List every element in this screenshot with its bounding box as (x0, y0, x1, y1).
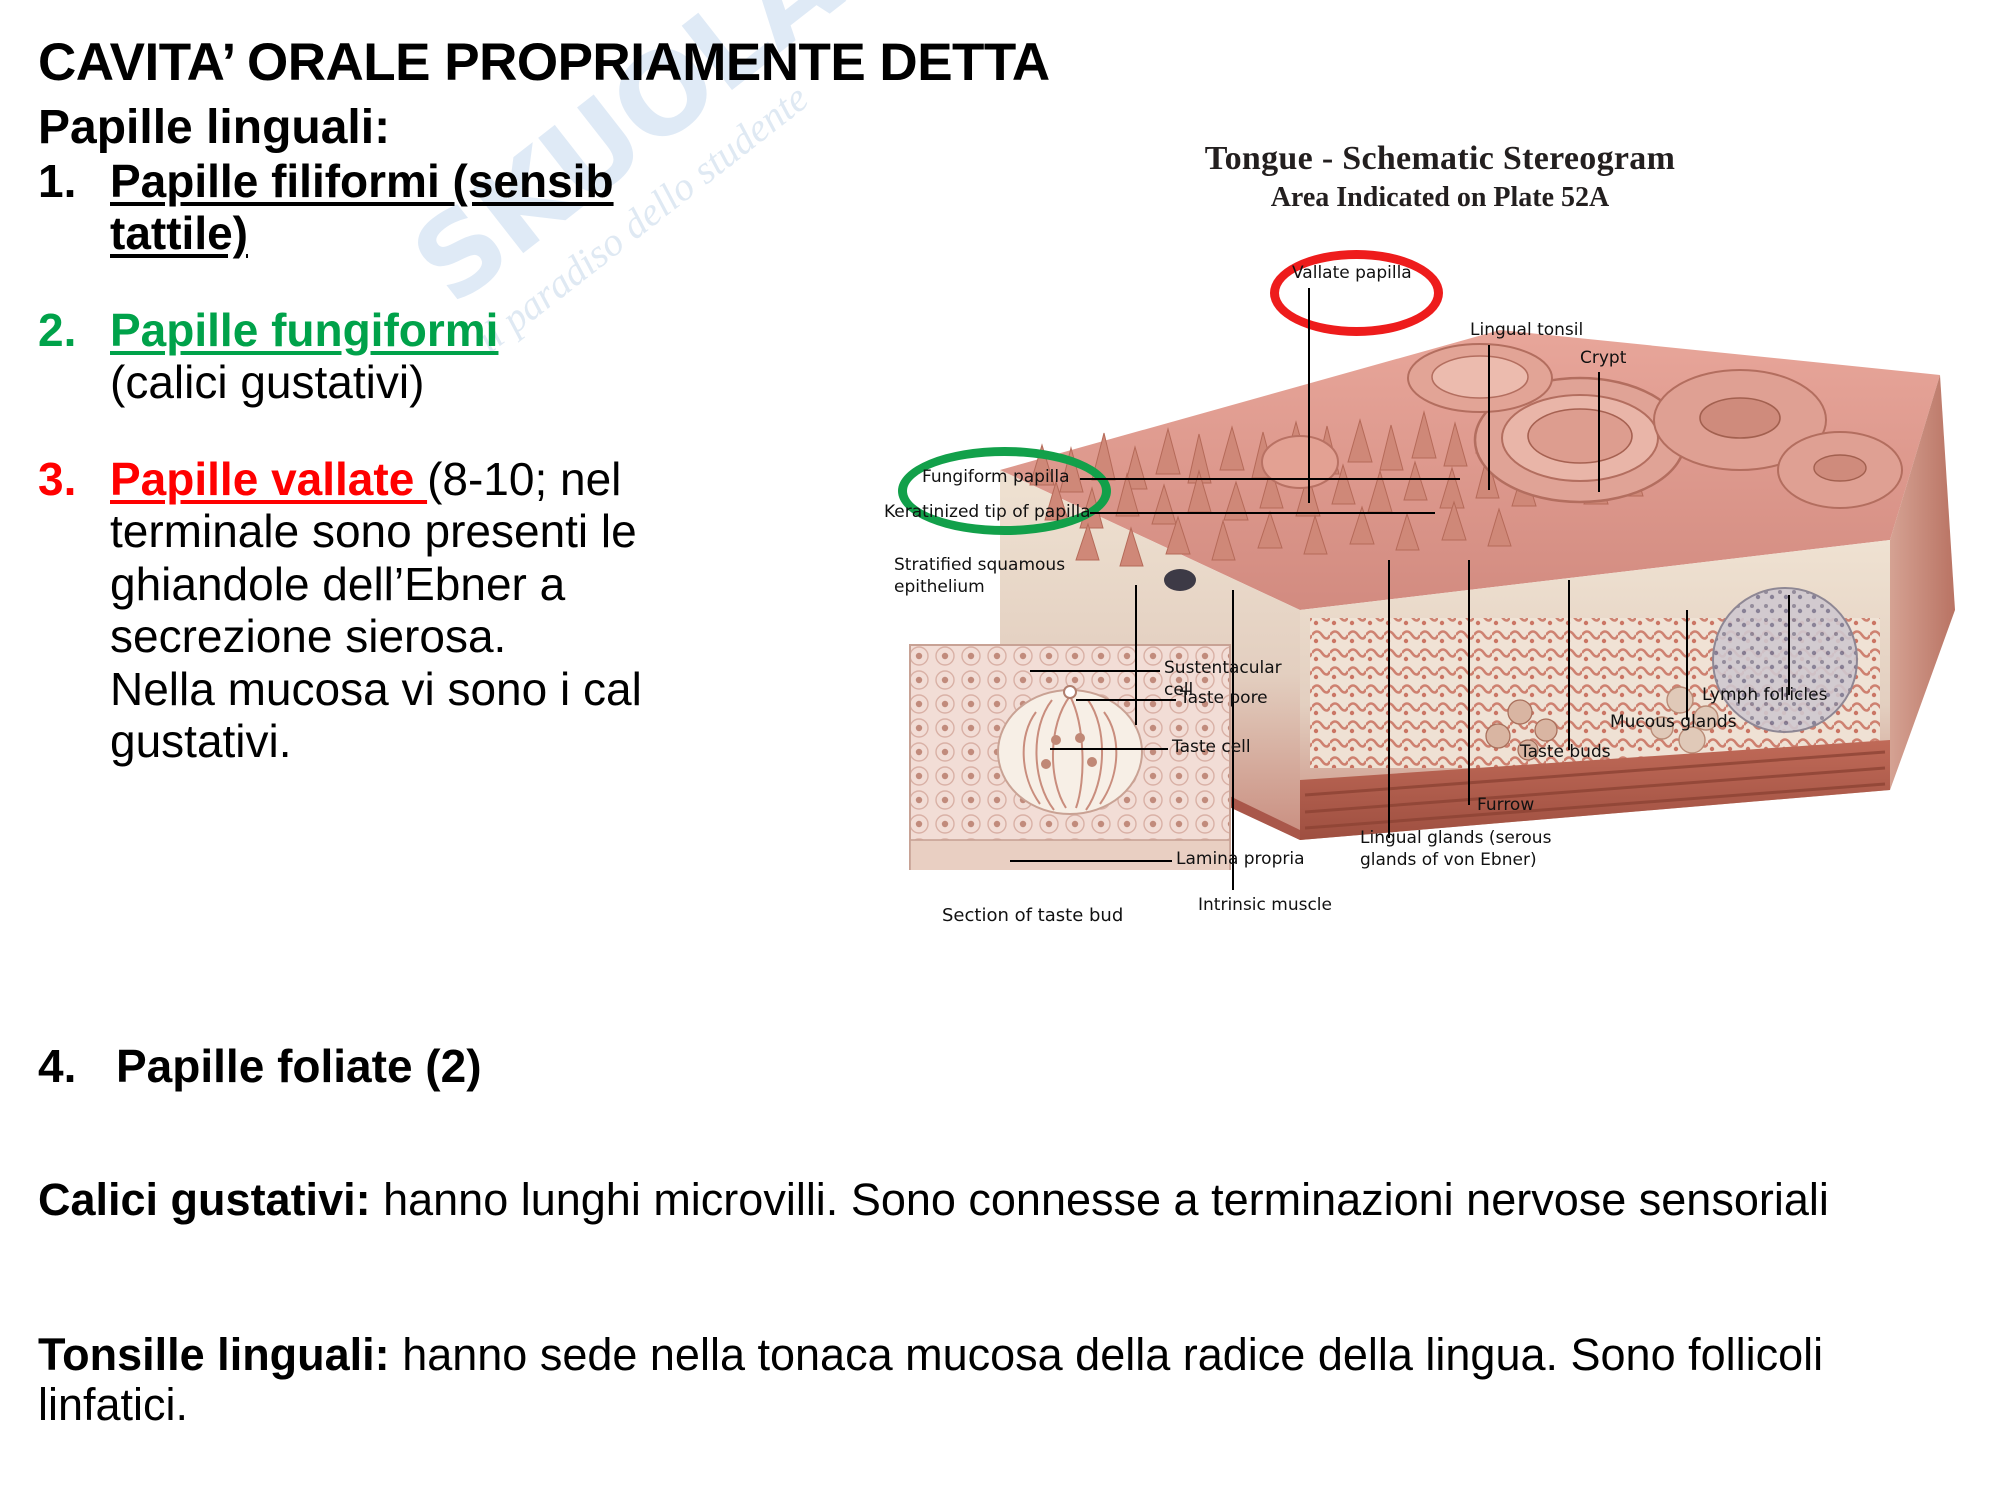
label-taste-buds: Taste buds (1520, 742, 1611, 763)
label-lymph-follicles: Lymph follicles (1702, 685, 1827, 706)
list-item-2-highlight: Papille fungiformi (110, 304, 498, 356)
list-item-3-rest4: secrezione sierosa. (110, 610, 506, 662)
list-item-1-highlight: Papille filiformi (sensib (110, 155, 614, 207)
paragraph-tonsille-linguali: Tonsille linguali: hanno sede nella tona… (38, 1330, 1948, 1431)
list-item-2-number: 2. (38, 304, 110, 356)
label-lingual-tonsil: Lingual tonsil (1470, 320, 1583, 341)
page-title: CAVITA’ ORALE PROPRIAMENTE DETTA (38, 32, 1050, 93)
label-taste-pore: Taste pore (1180, 688, 1268, 709)
list-item-2-rest: (calici gustativi) (110, 356, 424, 408)
list-item-3-line1: Papille vallate (8-10; nel (110, 453, 621, 505)
text-column: CAVITA’ ORALE PROPRIAMENTE DETTA Papille… (0, 0, 1100, 1500)
label-crypt: Crypt (1580, 348, 1626, 369)
list-item-3-highlight: Papille vallate (110, 453, 427, 505)
leader-vallate (1308, 288, 1310, 503)
label-mucous-glands: Mucous glands (1610, 712, 1737, 733)
label-lamina-propria: Lamina propria (1176, 849, 1305, 870)
list-item-3-rest6: gustativi. (110, 715, 292, 767)
list-item-3-rest5: Nella mucosa vi sono i cal (110, 663, 642, 715)
leader-fungiform (1080, 478, 1460, 480)
list-item-1-rest: tattile) (110, 207, 248, 259)
list-item-4: 4. Papille foliate (2) (38, 1040, 482, 1092)
label-intrinsic-muscle: Intrinsic muscle (1198, 895, 1332, 916)
leader-taste-buds (1568, 580, 1570, 750)
list-item-3-body: Papille vallate (8-10; nel terminale son… (110, 453, 642, 768)
list-item-2-body: Papille fungiformi (calici gustativi) (110, 304, 498, 409)
paragraph-calici-text: hanno lunghi microvilli. Sono connesse a… (371, 1174, 1829, 1225)
list-item-2: 2. Papille fungiformi (calici gustativi) (38, 304, 1098, 409)
label-sustentacular: Sustentacular (1164, 658, 1282, 679)
list-item-4-highlight: Papille foliate (2) (116, 1040, 482, 1092)
leader-furrow (1468, 560, 1470, 805)
leader-stratified (1135, 585, 1137, 725)
list-item-3-rest2: terminale sono presenti le (110, 505, 637, 557)
label-von-ebner: glands of von Ebner) (1360, 850, 1537, 871)
leader-lymph-follicles (1788, 595, 1790, 695)
leader-lingual-tonsil (1488, 345, 1490, 490)
spacer-1 (38, 260, 1098, 304)
leader-mucous-glands (1686, 610, 1688, 720)
label-furrow: Furrow (1477, 795, 1534, 816)
leader-lingual-glands (1388, 560, 1390, 838)
paragraph-tonsille-lead: Tonsille linguali: (38, 1329, 390, 1380)
list-item-3-number: 3. (38, 453, 110, 505)
list-item-3-rest3: ghiandole dell’Ebner a (110, 558, 565, 610)
papillae-list: 1. Papille filiformi (sensib tattile) 2.… (38, 155, 1098, 767)
page-subtitle: Papille linguali: (38, 100, 390, 155)
list-item-1-number: 1. (38, 155, 110, 207)
spacer-2 (38, 409, 1098, 453)
paragraph-calici-gustativi: Calici gustativi: hanno lunghi microvill… (38, 1175, 1948, 1225)
leader-crypt (1598, 372, 1600, 492)
label-lingual-glands: Lingual glands (serous (1360, 828, 1551, 849)
list-item-3: 3. Papille vallate (8-10; nel terminale … (38, 453, 1098, 768)
list-item-1-body: Papille filiformi (sensib tattile) (110, 155, 614, 260)
slide-canvas: SKUOLA.net il paradiso dello studente CA… (0, 0, 2000, 1500)
list-item-4-number: 4. (38, 1040, 116, 1092)
label-vallate-papilla: Vallate papilla (1292, 263, 1412, 284)
list-item-3-rest1: (8-10; nel (427, 453, 621, 505)
leader-keratinized (1090, 512, 1435, 514)
label-taste-cell: Taste cell (1172, 737, 1251, 758)
paragraph-calici-lead: Calici gustativi: (38, 1174, 371, 1225)
list-item-1: 1. Papille filiformi (sensib tattile) (38, 155, 1098, 260)
